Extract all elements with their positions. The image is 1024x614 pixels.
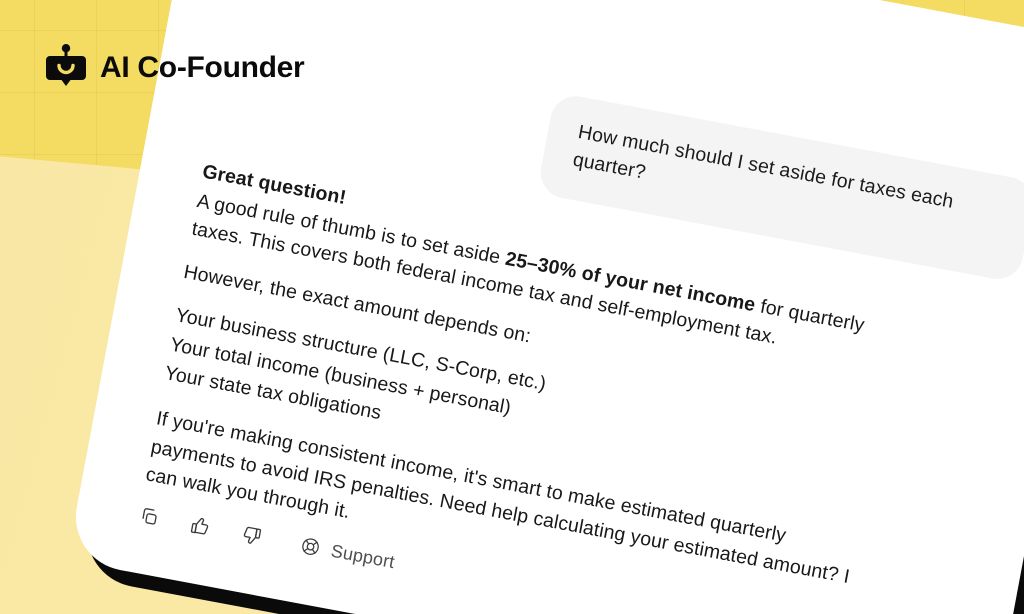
brand-title: AI Co-Founder (100, 51, 304, 85)
screen: How much should I set aside for taxes ea… (0, 0, 1024, 614)
copy-icon[interactable] (136, 504, 162, 530)
support-label: Support (329, 540, 396, 572)
support-button[interactable]: Support (298, 534, 397, 573)
brand-header: AI Co-Founder (46, 44, 304, 92)
thumbs-down-icon[interactable] (239, 523, 265, 549)
chat-card-content: How much should I set aside for taxes ea… (67, 0, 1024, 614)
lifebuoy-icon[interactable] (298, 534, 324, 560)
chat-card: How much should I set aside for taxes ea… (67, 0, 1024, 614)
robot-head-icon (46, 44, 86, 92)
thumbs-up-icon[interactable] (188, 513, 214, 539)
chat-card-group: How much should I set aside for taxes ea… (67, 0, 1024, 614)
